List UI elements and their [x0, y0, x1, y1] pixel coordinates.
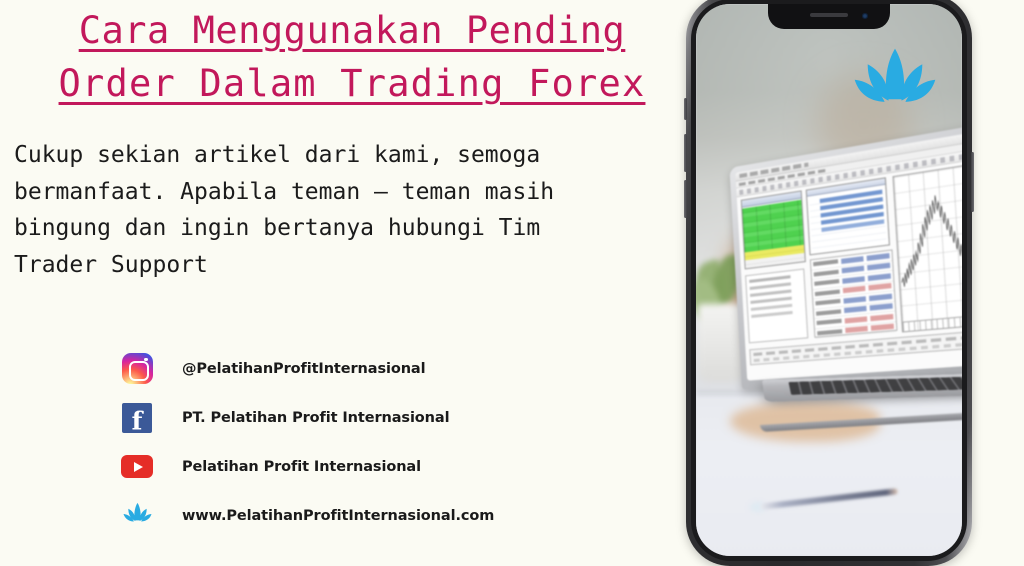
- page-title-line-2: Order Dalam Trading Forex: [16, 57, 688, 110]
- body-line-2: bermanfaat. Apabila teman – teman masih: [14, 174, 654, 211]
- quotes-table: [810, 249, 898, 337]
- youtube-icon: [120, 450, 154, 484]
- phone-earpiece-speaker: [810, 13, 848, 17]
- phone-silent-switch[interactable]: [684, 98, 687, 120]
- social-row-website[interactable]: www.PelatihanProfitInternasional.com: [120, 491, 640, 540]
- phone-mockup: [686, 0, 972, 566]
- body-line-3: bingung dan ingin bertanya hubungi Tim: [14, 210, 654, 247]
- youtube-channel-name: Pelatihan Profit Internasional: [182, 459, 421, 475]
- body-line-1: Cukup sekian artikel dari kami, semoga: [14, 137, 654, 174]
- navigator-panel: [806, 177, 890, 255]
- social-row-instagram[interactable]: @PelatihanProfitInternasional: [120, 344, 640, 393]
- page-title: Cara Menggunakan Pending Order Dalam Tra…: [16, 4, 688, 110]
- price-chart-panel: [892, 164, 962, 332]
- body-paragraph: Cukup sekian artikel dari kami, semoga b…: [14, 137, 654, 283]
- phone-volume-down-button[interactable]: [684, 180, 687, 218]
- laptop: [742, 166, 962, 418]
- instagram-handle: @PelatihanProfitInternasional: [182, 361, 425, 377]
- phone-notch: [768, 4, 890, 29]
- lotus-logo-icon: [120, 499, 154, 533]
- phone-power-button[interactable]: [971, 152, 974, 212]
- lotus-logo-icon: [852, 46, 938, 124]
- page-title-line-1: Cara Menggunakan Pending: [16, 4, 688, 57]
- market-watch-panel: [741, 190, 806, 269]
- facebook-icon: f: [120, 401, 154, 435]
- laptop-lid: [729, 125, 962, 390]
- phone-screen: [696, 4, 962, 556]
- website-url: www.PelatihanProfitInternasional.com: [182, 508, 494, 524]
- social-row-youtube[interactable]: Pelatihan Profit Internasional: [120, 442, 640, 491]
- laptop-screen: [735, 132, 962, 380]
- social-row-facebook[interactable]: f PT. Pelatihan Profit Internasional: [120, 393, 640, 442]
- body-line-4: Trader Support: [14, 247, 654, 284]
- laptop-keys: [788, 376, 962, 395]
- terminal-tree-panel: [745, 268, 808, 343]
- content-panel: Cara Menggunakan Pending Order Dalam Tra…: [0, 0, 690, 566]
- facebook-page-name: PT. Pelatihan Profit Internasional: [182, 410, 449, 426]
- facebook-f-glyph: f: [122, 408, 152, 433]
- phone-volume-up-button[interactable]: [684, 134, 687, 172]
- phone-front-camera: [862, 13, 868, 19]
- market-watch-rows-up: [742, 200, 804, 253]
- instagram-icon: [120, 352, 154, 386]
- chart-price-line: [894, 165, 962, 331]
- social-links-list: @PelatihanProfitInternasional f PT. Pela…: [120, 344, 640, 540]
